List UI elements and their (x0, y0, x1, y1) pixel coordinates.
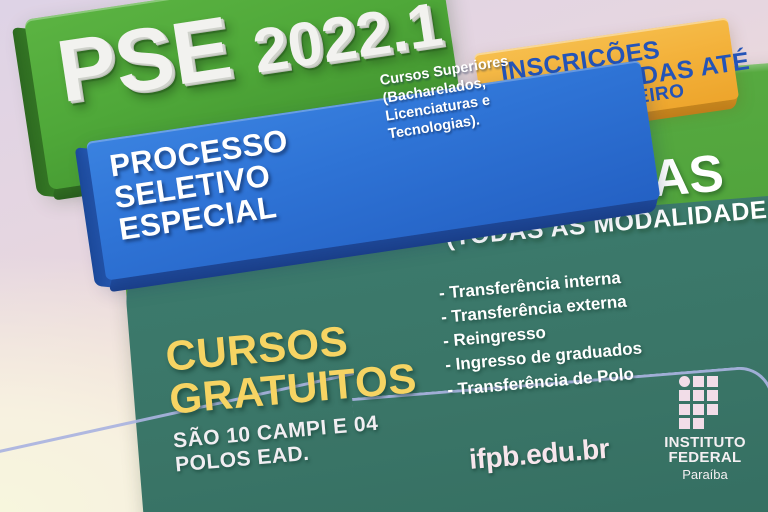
ifpb-logo: INSTITUTO FEDERAL Paraíba (650, 376, 760, 482)
logo-state-name: Paraíba (650, 467, 760, 482)
free-courses-title: CURSOS GRATUITOS (164, 314, 418, 421)
logo-circle (679, 376, 690, 387)
logo-square (679, 390, 690, 401)
free-courses-heading: CURSOS GRATUITOS SÃO 10 CAMPI E 04 POLOS… (164, 314, 423, 477)
logo-square (679, 418, 690, 429)
logo-name-line-2: FEDERAL (650, 450, 760, 465)
logo-square (693, 404, 704, 415)
promotional-poster: PSE 2022.1 INSCRIÇÕES PRORROGADAS ATÉ 23… (0, 0, 768, 512)
institute-federal-grid-icon (679, 376, 731, 428)
logo-square (693, 418, 704, 429)
logo-square (693, 390, 704, 401)
logo-name-line-1: INSTITUTO (650, 435, 760, 450)
logo-square (707, 404, 718, 415)
vacancy-modalities-list: - Transferência interna - Transferência … (438, 265, 645, 402)
logo-square (693, 376, 704, 387)
logo-square (707, 390, 718, 401)
logo-square (707, 376, 718, 387)
logo-square (679, 404, 690, 415)
logo-institute-name: INSTITUTO FEDERAL (650, 435, 760, 466)
